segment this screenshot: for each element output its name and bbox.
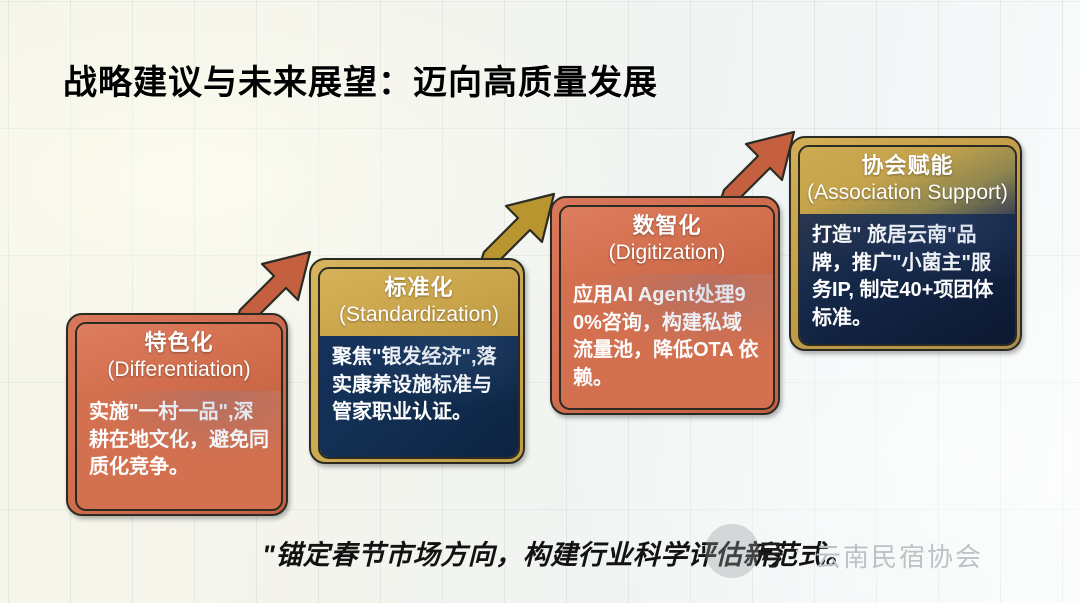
card-inner: 数智化 (Digitization) 应用AI Agent处理90%咨询，构建私…: [559, 205, 775, 410]
strategy-card-standardization[interactable]: 标准化 (Standardization) 聚焦"银发经济",落实康养设施标准与…: [309, 258, 525, 464]
card-title-zh: 协会赋能: [806, 153, 1009, 180]
card-title-en: (Differentiation): [83, 357, 275, 383]
card-inner: 标准化 (Standardization) 聚焦"银发经济",落实康养设施标准与…: [318, 267, 520, 459]
card-body-text: 打造" 旅居云南"品牌，推广"小菌主"服务IP, 制定40+项团体标准。: [800, 214, 1015, 344]
card-title-en: (Association Support): [806, 180, 1009, 206]
strategy-card-differentiation[interactable]: 特色化 (Differentiation) 实施"一村一品",深耕在地文化，避免…: [66, 313, 288, 516]
card-title-en: (Standardization): [326, 302, 512, 328]
watermark-hao: 号: [757, 534, 784, 573]
card-body-text: 实施"一村一品",深耕在地文化，避免同质化竞争。: [77, 391, 281, 509]
card-title-en: (Digitization): [567, 240, 767, 266]
card-header: 特色化 (Differentiation): [77, 324, 281, 391]
watermark-separator-dot: ·: [793, 534, 802, 565]
card-inner: 特色化 (Differentiation) 实施"一村一品",深耕在地文化，避免…: [75, 322, 283, 511]
strategy-card-association-support[interactable]: 协会赋能 (Association Support) 打造" 旅居云南"品牌，推…: [789, 136, 1022, 351]
card-title-zh: 标准化: [326, 275, 512, 302]
card-body-text: 聚焦"银发经济",落实康养设施标准与管家职业认证。: [320, 336, 518, 457]
card-inner: 协会赋能 (Association Support) 打造" 旅居云南"品牌，推…: [798, 145, 1017, 346]
watermark-badge-icon: [705, 524, 759, 578]
card-header: 标准化 (Standardization): [320, 269, 518, 336]
watermark-text: 云南民宿协会: [815, 537, 983, 574]
card-header: 协会赋能 (Association Support): [800, 147, 1015, 214]
slide-canvas: 战略建议与未来展望：迈向高质量发展 特色化 (Differentiation): [0, 0, 1080, 603]
card-body-text: 应用AI Agent处理90%咨询，构建私域 流量池，降低OTA 依 赖。: [561, 274, 773, 408]
strategy-card-digitization[interactable]: 数智化 (Digitization) 应用AI Agent处理90%咨询，构建私…: [550, 196, 780, 415]
card-title-zh: 特色化: [83, 330, 275, 357]
page-title: 战略建议与未来展望：迈向高质量发展: [63, 55, 658, 104]
card-header: 数智化 (Digitization): [561, 207, 773, 274]
card-title-zh: 数智化: [567, 213, 767, 240]
